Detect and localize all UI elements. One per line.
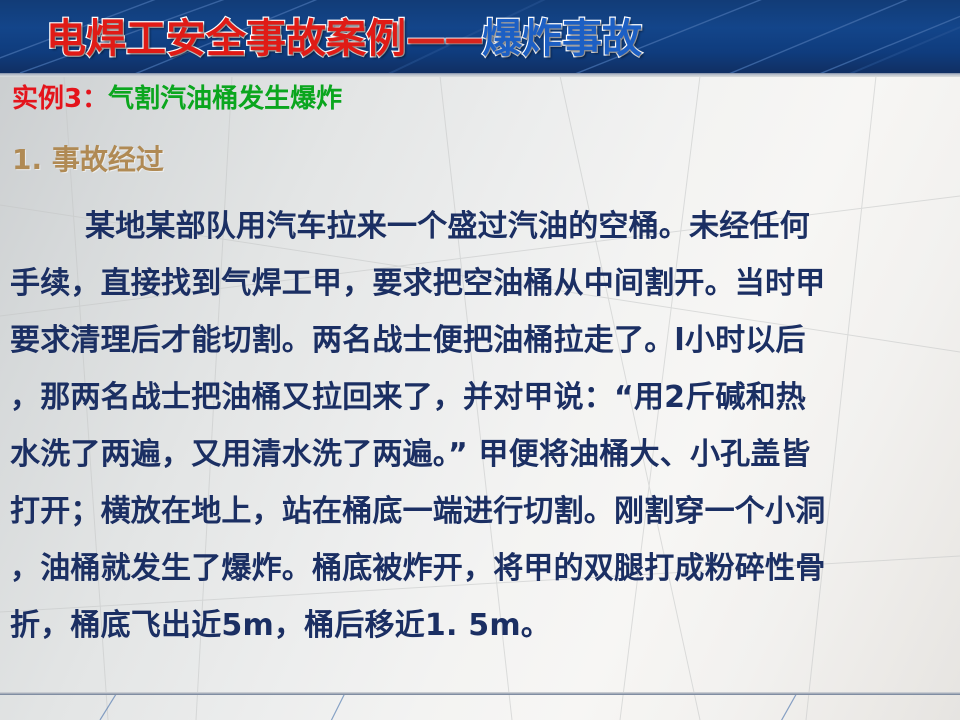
body-line: 手续，直接找到气焊工甲，要求把空油桶从中间割开。当时甲: [10, 255, 952, 312]
body-paragraph: 某地某部队用汽车拉来一个盛过汽油的空桶。未经任何 手续，直接找到气焊工甲，要求把…: [10, 198, 952, 654]
section-subheading: 1. 事故经过: [12, 146, 164, 174]
body-line: ，那两名战士把油桶又拉回来了，并对甲说：“用2斤碱和热: [10, 369, 952, 426]
case-heading-label: 实例3：: [12, 84, 108, 114]
header-band-bottom-edge: [0, 73, 960, 77]
page-title-part2: 爆炸事故: [482, 19, 642, 59]
case-heading: 实例3：气割汽油桶发生爆炸: [12, 86, 342, 112]
body-line: 要求清理后才能切割。两名战士便把油桶拉走了。l小时以后: [10, 312, 952, 369]
case-heading-text: 气割汽油桶发生爆炸: [108, 84, 342, 114]
page-title-dash: ——: [406, 19, 482, 59]
body-line: 某地某部队用汽车拉来一个盛过汽油的空桶。未经任何: [10, 198, 952, 255]
page-title-part1: 电焊工安全事故案例: [46, 19, 406, 59]
page-title: 电焊工安全事故案例 —— 爆炸事故: [46, 11, 642, 67]
footer-diagonal-streaks: [0, 695, 960, 720]
slide-root: 电焊工安全事故案例 —— 爆炸事故 实例3：气割汽油桶发生爆炸 1. 事故经过 …: [0, 0, 960, 720]
body-line: 水洗了两遍，又用清水洗了两遍。” 甲便将油桶大、小孔盖皆: [10, 426, 952, 483]
footer-band: [0, 695, 960, 720]
header-band: 电焊工安全事故案例 —— 爆炸事故: [0, 0, 960, 73]
body-line: 打开；横放在地上，站在桶底一端进行切割。刚割穿一个小洞: [10, 483, 952, 540]
body-line: 折，桶底飞出近5m，桶后移近1. 5m。: [10, 597, 952, 654]
body-line: ，油桶就发生了爆炸。桶底被炸开，将甲的双腿打成粉碎性骨: [10, 540, 952, 597]
